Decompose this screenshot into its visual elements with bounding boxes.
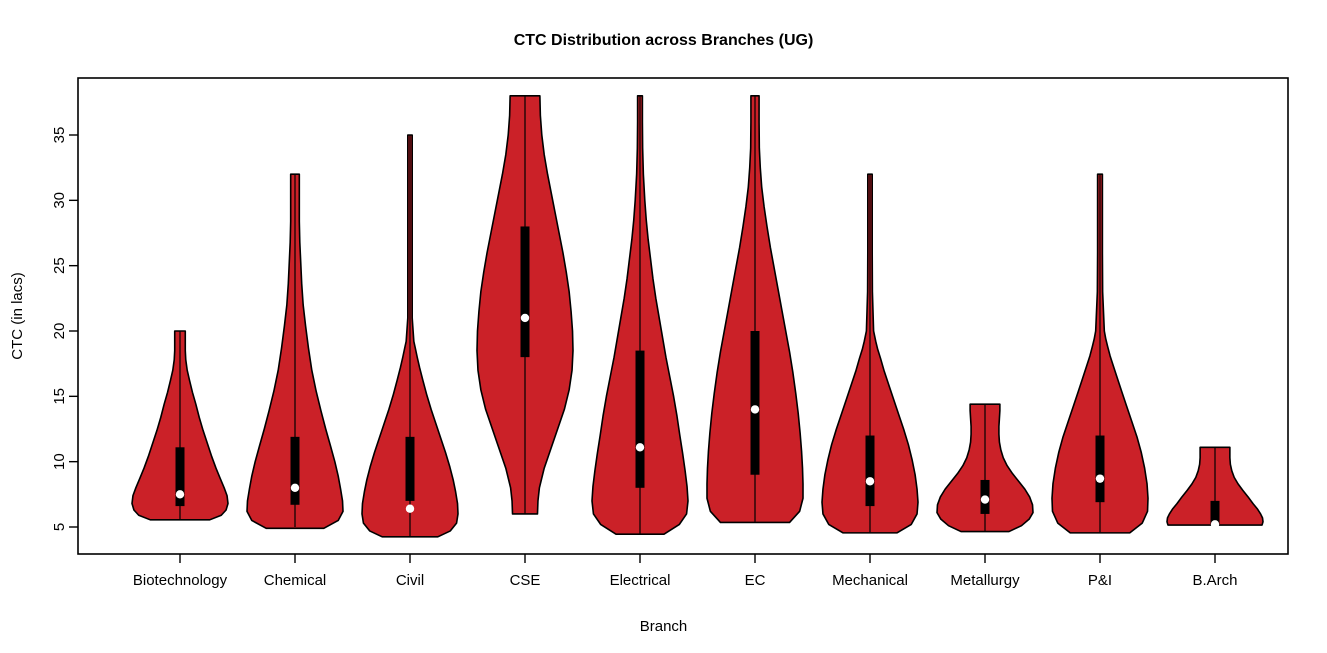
- y-tick-label: 35: [51, 127, 68, 144]
- page-title: CTC Distribution across Branches (UG): [514, 32, 814, 49]
- violin-cse: [477, 96, 573, 514]
- x-tick-label-civil: Civil: [396, 572, 424, 589]
- median-marker: [1096, 474, 1104, 482]
- x-tick-label-p-i: P&I: [1088, 572, 1112, 589]
- median-marker: [1211, 520, 1219, 528]
- y-axis: 5101520253035: [51, 127, 78, 532]
- x-tick-label-cse: CSE: [510, 572, 541, 589]
- x-tick-label-b-arch: B.Arch: [1192, 572, 1237, 589]
- median-marker: [751, 405, 759, 413]
- iqr-box: [521, 226, 530, 357]
- violin-b-arch: [1167, 447, 1263, 528]
- violin-p-i: [1052, 174, 1148, 533]
- median-marker: [406, 505, 414, 513]
- x-tick-label-electrical: Electrical: [610, 572, 671, 589]
- y-tick-label: 20: [51, 323, 68, 340]
- violin-series-group: [132, 96, 1263, 537]
- violin-metallurgy: [937, 404, 1033, 531]
- median-marker: [291, 484, 299, 492]
- x-tick-label-ec: EC: [745, 572, 766, 589]
- x-tick-label-biotechnology: Biotechnology: [133, 572, 228, 589]
- violin-ec: [707, 96, 803, 523]
- y-tick-label: 15: [51, 388, 68, 405]
- iqr-box: [406, 437, 415, 501]
- iqr-box: [636, 351, 645, 488]
- violin-civil: [362, 135, 458, 537]
- median-marker: [636, 443, 644, 451]
- iqr-box: [291, 437, 300, 505]
- y-tick-label: 30: [51, 192, 68, 209]
- x-tick-label-metallurgy: Metallurgy: [950, 572, 1020, 589]
- violin-chemical: [247, 174, 343, 528]
- x-tick-label-mechanical: Mechanical: [832, 572, 908, 589]
- violin-biotechnology: [132, 331, 228, 520]
- y-tick-label: 10: [51, 453, 68, 470]
- y-tick-label: 5: [51, 523, 68, 531]
- x-axis: BiotechnologyChemicalCivilCSEElectricalE…: [133, 554, 1238, 589]
- iqr-box: [866, 436, 875, 507]
- median-marker: [521, 314, 529, 322]
- violin-mechanical: [822, 174, 918, 533]
- median-marker: [981, 495, 989, 503]
- iqr-box: [1096, 436, 1105, 503]
- violin-plot-canvas: CTC Distribution across Branches (UG) CT…: [0, 0, 1327, 653]
- y-tick-label: 25: [51, 257, 68, 274]
- median-marker: [176, 490, 184, 498]
- median-marker: [866, 477, 874, 485]
- y-axis-title: CTC (in lacs): [9, 272, 26, 360]
- x-tick-label-chemical: Chemical: [264, 572, 327, 589]
- x-axis-title: Branch: [640, 618, 688, 635]
- iqr-box: [751, 331, 760, 475]
- violin-electrical: [592, 96, 688, 534]
- violin-plot-figure: CTC Distribution across Branches (UG) CT…: [0, 0, 1327, 653]
